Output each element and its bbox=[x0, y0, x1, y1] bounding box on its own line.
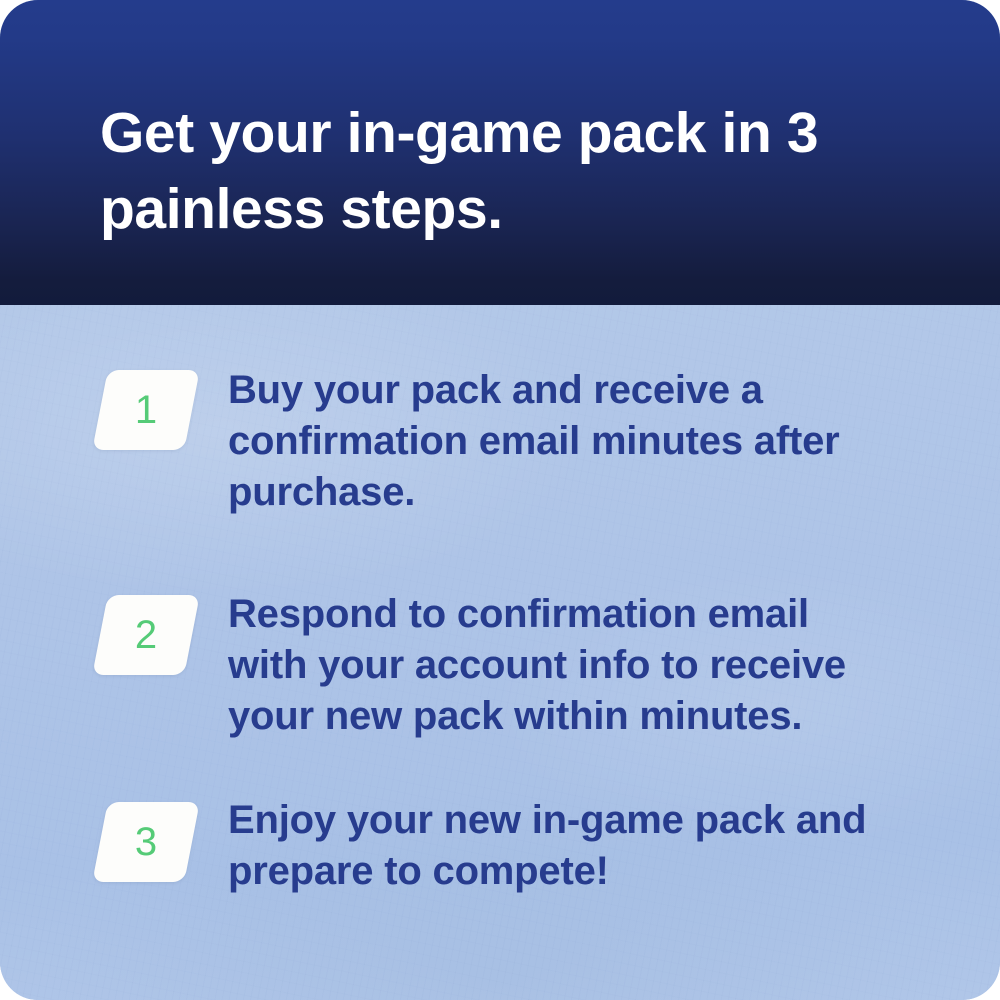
step-badge-2: 2 bbox=[92, 595, 200, 675]
step-number-label: 3 bbox=[100, 802, 192, 882]
promo-card: Get your in-game pack in 3 painless step… bbox=[0, 0, 1000, 1000]
step-description: Respond to confirmation email with your … bbox=[228, 589, 898, 742]
page-title: Get your in-game pack in 3 painless step… bbox=[100, 95, 900, 247]
step-number-label: 1 bbox=[100, 370, 192, 450]
card-header: Get your in-game pack in 3 painless step… bbox=[0, 0, 1000, 305]
step-description: Enjoy your new in-game pack and prepare … bbox=[228, 795, 898, 897]
step-description: Buy your pack and receive a confirmation… bbox=[228, 365, 898, 518]
step-number-label: 2 bbox=[100, 595, 192, 675]
card-body: 1 Buy your pack and receive a confirmati… bbox=[0, 305, 1000, 1000]
step-badge-3: 3 bbox=[92, 802, 200, 882]
step-badge-1: 1 bbox=[92, 370, 200, 450]
